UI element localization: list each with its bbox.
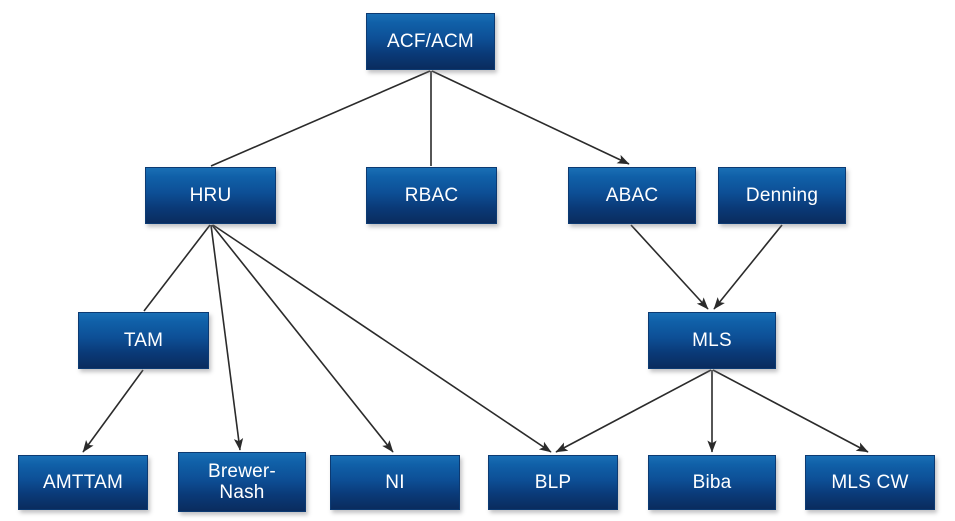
edge-mls-to-blp — [556, 370, 711, 452]
node-blp[interactable]: BLP — [488, 455, 618, 510]
node-abac[interactable]: ABAC — [568, 167, 696, 224]
node-label-blp: BLP — [535, 472, 572, 493]
edge-acf_acm-to-abac — [432, 71, 629, 164]
node-label-tam: TAM — [124, 330, 163, 351]
diagram-canvas: ACF/ACMHRURBACABACDenningTAMMLSAMTTAMBre… — [0, 0, 955, 521]
edge-tam-to-amttam — [83, 370, 143, 452]
node-label-denning: Denning — [746, 185, 818, 206]
edge-acf_acm-to-hru — [211, 71, 430, 166]
node-acf_acm[interactable]: ACF/ACM — [366, 13, 495, 70]
node-mls_cw[interactable]: MLS CW — [805, 455, 935, 510]
node-hru[interactable]: HRU — [145, 167, 276, 224]
edge-denning-to-mls — [714, 225, 782, 309]
node-amttam[interactable]: AMTTAM — [18, 455, 148, 510]
node-brewer_nash[interactable]: Brewer- Nash — [178, 452, 306, 512]
edge-mls-to-mls_cw — [713, 370, 868, 452]
node-label-acf_acm: ACF/ACM — [387, 31, 474, 52]
node-tam[interactable]: TAM — [78, 312, 209, 369]
edge-group — [83, 71, 868, 452]
node-label-brewer_nash: Brewer- Nash — [208, 461, 276, 504]
node-ni[interactable]: NI — [330, 455, 460, 510]
node-label-biba: Biba — [693, 472, 732, 493]
node-label-abac: ABAC — [606, 185, 659, 206]
edge-abac-to-mls — [631, 225, 708, 309]
node-rbac[interactable]: RBAC — [366, 167, 497, 224]
node-label-amttam: AMTTAM — [43, 472, 123, 493]
edge-hru-to-brewer_nash — [211, 225, 240, 450]
edge-hru-to-ni — [212, 225, 393, 452]
node-label-mls: MLS — [692, 330, 732, 351]
edge-hru-to-blp — [213, 225, 551, 452]
node-label-ni: NI — [385, 472, 404, 493]
edge-layer — [0, 0, 955, 521]
node-label-hru: HRU — [190, 185, 232, 206]
node-biba[interactable]: Biba — [648, 455, 776, 510]
node-denning[interactable]: Denning — [718, 167, 846, 224]
edge-hru-to-tam — [144, 225, 210, 311]
node-label-rbac: RBAC — [405, 185, 459, 206]
node-mls[interactable]: MLS — [648, 312, 776, 369]
node-label-mls_cw: MLS CW — [831, 472, 908, 493]
